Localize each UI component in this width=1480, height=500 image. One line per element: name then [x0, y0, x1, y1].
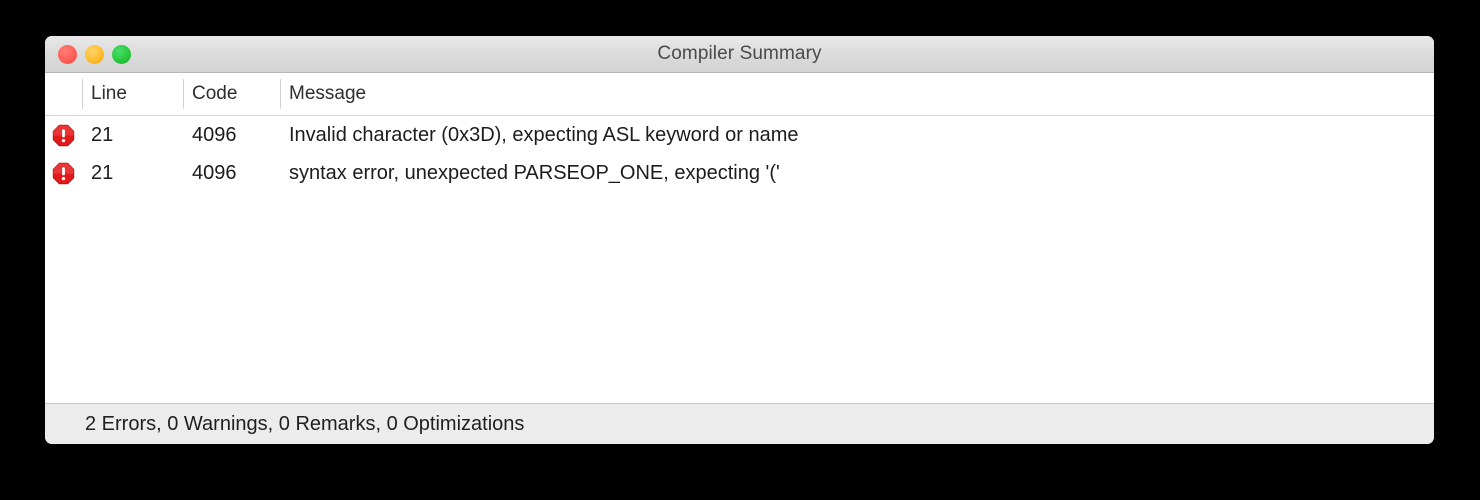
cell-line: 21	[91, 116, 113, 154]
window-title: Compiler Summary	[45, 43, 1434, 65]
cell-message: syntax error, unexpected PARSEOP_ONE, ex…	[289, 154, 780, 192]
status-bar: 2 Errors, 0 Warnings, 0 Remarks, 0 Optim…	[45, 403, 1434, 444]
column-divider[interactable]	[183, 79, 184, 109]
minimize-button[interactable]	[85, 45, 104, 64]
zoom-button[interactable]	[112, 45, 131, 64]
window-controls	[58, 36, 131, 72]
table-header: Line Code Message	[45, 73, 1434, 116]
status-summary-text: 2 Errors, 0 Warnings, 0 Remarks, 0 Optim…	[85, 413, 524, 436]
cell-code: 4096	[192, 154, 237, 192]
screen: Compiler Summary Line Code Message	[0, 0, 1480, 500]
table-row[interactable]: 21 4096 syntax error, unexpected PARSEOP…	[45, 154, 1434, 192]
cell-line: 21	[91, 154, 113, 192]
close-button[interactable]	[58, 45, 77, 64]
compiler-summary-window: Compiler Summary Line Code Message	[45, 36, 1434, 444]
table-row[interactable]: 21 4096 Invalid character (0x3D), expect…	[45, 116, 1434, 154]
window-titlebar: Compiler Summary	[45, 36, 1434, 73]
column-header-code[interactable]: Code	[192, 73, 237, 115]
column-header-line[interactable]: Line	[91, 73, 127, 115]
error-icon	[52, 124, 75, 147]
cell-message: Invalid character (0x3D), expecting ASL …	[289, 116, 799, 154]
table-body: 21 4096 Invalid character (0x3D), expect…	[45, 116, 1434, 405]
column-divider[interactable]	[82, 79, 83, 109]
column-header-message[interactable]: Message	[289, 73, 366, 115]
cell-code: 4096	[192, 116, 237, 154]
column-divider[interactable]	[280, 79, 281, 109]
error-icon	[52, 162, 75, 185]
